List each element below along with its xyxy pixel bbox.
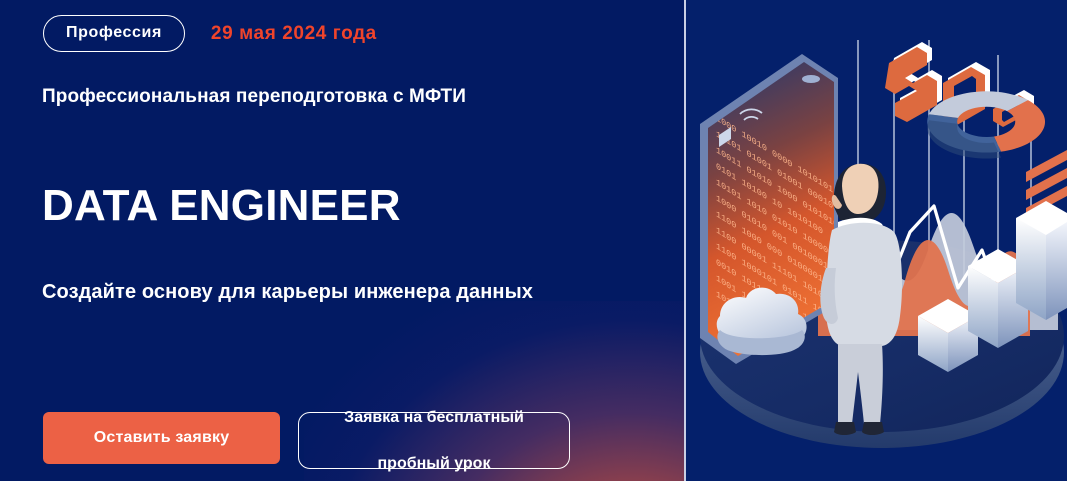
illustration-panel: 1000 10010 0000 1010101 10101 01001 0100… (686, 0, 1067, 481)
bar-cube-large (1016, 201, 1067, 320)
cta-button-row: Оставить заявку Заявка на бесплатный про… (43, 412, 570, 469)
free-trial-line-1: Заявка на бесплатный (344, 406, 524, 429)
isometric-scene-illustration: 1000 10010 0000 1010101 10101 01001 0100… (686, 0, 1067, 481)
program-kicker: Профессиональная переподготовка с МФТИ (42, 86, 466, 108)
apply-button[interactable]: Оставить заявку (43, 412, 280, 464)
start-date-label: 29 мая 2024 года (211, 23, 377, 45)
profession-badge: Профессия (43, 15, 185, 52)
page-title: DATA ENGINEER (42, 184, 401, 228)
free-trial-line-2: пробный урок (344, 452, 524, 475)
badge-date-row: Профессия 29 мая 2024 года (43, 15, 377, 52)
panel-divider (684, 0, 686, 481)
free-trial-lesson-button[interactable]: Заявка на бесплатный пробный урок (298, 412, 570, 469)
sweater (826, 223, 902, 346)
promo-banner: Профессия 29 мая 2024 года Профессиональ… (0, 0, 1067, 481)
page-subtitle: Создайте основу для карьеры инженера дан… (42, 281, 533, 304)
camera-icon (802, 75, 820, 83)
left-content-panel: Профессия 29 мая 2024 года Профессиональ… (0, 0, 684, 481)
